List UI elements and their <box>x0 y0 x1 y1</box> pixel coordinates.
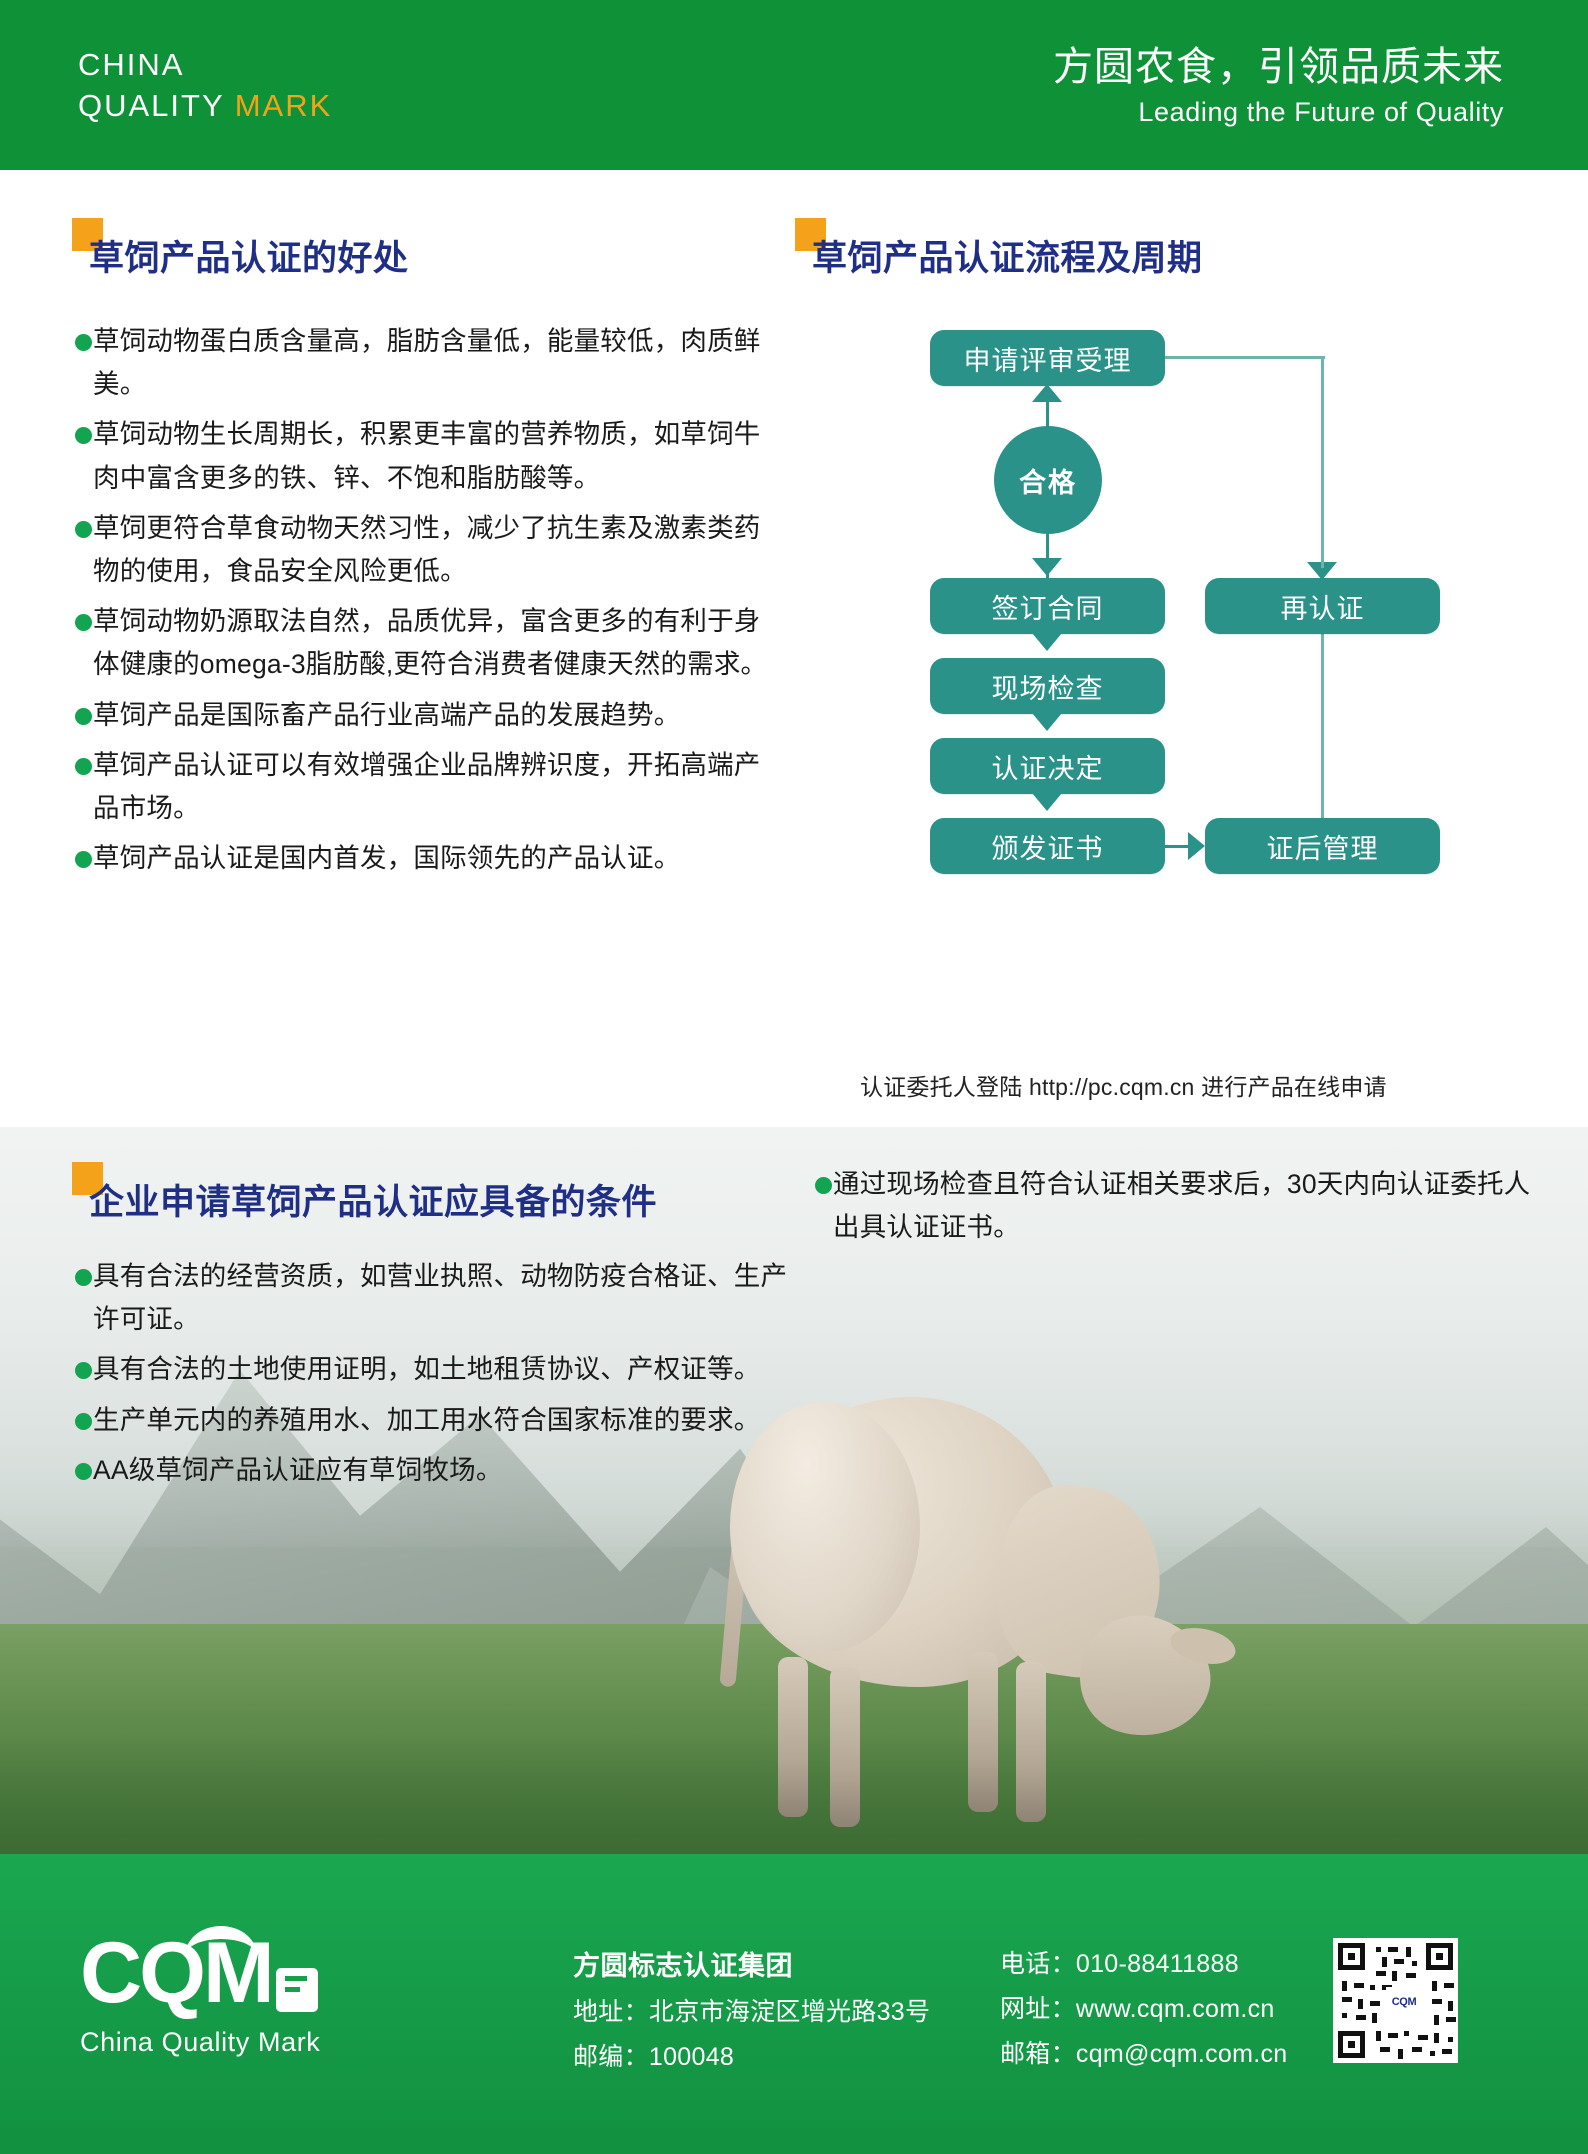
cqm-logo-subtitle: China Quality Mark <box>80 2027 400 2058</box>
flow-node-contract-label: 签订合同 <box>992 587 1104 626</box>
list-item: 草饲更符合草食动物天然习性，减少了抗生素及激素类药物的使用，食品安全风险更低。 <box>55 507 775 593</box>
flow-connector-post-to-recert <box>1321 634 1324 818</box>
list-item-text: 草饲动物奶源取法自然，品质优异，富含更多的有利于身体健康的omega-3脂肪酸,… <box>93 600 775 686</box>
bullet-dot-icon <box>75 708 92 725</box>
process-note: 认证委托人登陆 http://pc.cqm.cn 进行产品在线申请 <box>860 1068 1560 1102</box>
cqm-logo: CQM China Quality Mark <box>80 1930 400 2058</box>
footer-address: 地址：北京市海淀区增光路33号 <box>573 1992 930 2028</box>
flow-arrow-down-icon <box>1032 633 1062 651</box>
footer-website[interactable]: 网址：www.cqm.com.cn <box>1000 1989 1287 2025</box>
conditions-list: 具有合法的经营资质，如营业执照、动物防疫合格证、生产许可证。 具有合法的土地使用… <box>55 1255 795 1499</box>
qr-finder-icon <box>1426 1943 1453 1970</box>
list-item-text: 草饲更符合草食动物天然习性，减少了抗生素及激素类药物的使用，食品安全风险更低。 <box>93 507 775 593</box>
flow-node-issue-label: 颁发证书 <box>992 827 1104 866</box>
bullet-dot-icon <box>75 334 92 351</box>
brand-wordmark: CHINA QUALITY MARK <box>78 45 332 127</box>
flow-connector-apply-to-recert-h <box>1165 356 1325 359</box>
qr-code[interactable]: CQM <box>1333 1938 1458 2063</box>
flow-node-contract: 签订合同 <box>930 578 1165 634</box>
list-item-text: 通过现场检查且符合认证相关要求后，30天内向认证委托人出具认证证书。 <box>833 1163 1535 1249</box>
list-item-text: 具有合法的土地使用证明，如土地租赁协议、产权证等。 <box>93 1348 795 1391</box>
list-item-text: 生产单元内的养殖用水、加工用水符合国家标准的要求。 <box>93 1399 795 1442</box>
flow-node-apply: 申请评审受理 <box>930 330 1165 386</box>
qr-code-pattern: CQM <box>1336 1941 1455 2060</box>
flow-connector-apply-to-recert-v <box>1321 356 1324 568</box>
brand-mark-text: MARK <box>235 88 333 123</box>
footer-company-name: 方圆标志认证集团 <box>573 1944 930 1983</box>
flow-node-post-manage: 证后管理 <box>1205 818 1440 874</box>
flow-node-recert-label: 再认证 <box>1281 587 1365 626</box>
list-item-text: 草饲动物生长周期长，积累更丰富的营养物质，如草饲牛肉中富含更多的铁、锌、不饱和脂… <box>93 413 775 499</box>
flow-node-decision-label: 认证决定 <box>992 747 1104 786</box>
footer-postcode: 邮编：100048 <box>573 2037 930 2073</box>
bullet-dot-icon <box>75 758 92 775</box>
list-item: 生产单元内的养殖用水、加工用水符合国家标准的要求。 <box>55 1399 795 1442</box>
certification-flowchart: 申请评审受理 合格 签订合同 现场检查 认证决定 颁发证书 证后管理 再认证 <box>900 330 1460 990</box>
list-item: AA级草饲产品认证应有草饲牧场。 <box>55 1449 795 1492</box>
list-item: 草饲产品是国际畜产品行业高端产品的发展趋势。 <box>55 694 775 737</box>
bullet-dot-icon <box>75 1463 92 1480</box>
list-item: 草饲产品认证是国内首发，国际领先的产品认证。 <box>55 837 775 880</box>
flow-node-post-manage-label: 证后管理 <box>1267 827 1379 866</box>
list-item-text: 草饲产品是国际畜产品行业高端产品的发展趋势。 <box>93 694 775 737</box>
flow-node-inspection: 现场检查 <box>930 658 1165 714</box>
cow-leg <box>1016 1662 1046 1822</box>
slogan-chinese: 方圆农食，引领品质未来 <box>1053 42 1504 93</box>
conditions-title: 企业申请草饲产品认证应具备的条件 <box>89 1174 657 1225</box>
flow-node-apply-label: 申请评审受理 <box>964 339 1132 378</box>
flow-node-pass-label: 合格 <box>1019 461 1077 500</box>
cqm-logo-badge-icon <box>276 1968 318 2012</box>
flow-node-inspection-label: 现场检查 <box>992 667 1104 706</box>
bullet-dot-icon <box>75 851 92 868</box>
cow-leg <box>830 1667 860 1827</box>
footer-contact-block: 电话：010-88411888 网址：www.cqm.com.cn 邮箱：cqm… <box>1000 1944 1287 2079</box>
list-item-text: 草饲动物蛋白质含量高，脂肪含量低，能量较低，肉质鲜美。 <box>93 320 775 406</box>
list-item: 具有合法的经营资质，如营业执照、动物防疫合格证、生产许可证。 <box>55 1255 795 1341</box>
page-header: CHINA QUALITY MARK 方圆农食，引领品质未来 Leading t… <box>0 0 1588 170</box>
brand-line-quality-mark: QUALITY MARK <box>78 86 332 127</box>
process-title: 草饲产品认证流程及周期 <box>812 230 1203 281</box>
qr-finder-icon <box>1338 2031 1365 2058</box>
flow-node-pass: 合格 <box>994 426 1102 534</box>
flow-node-decision: 认证决定 <box>930 738 1165 794</box>
list-item: 具有合法的土地使用证明，如土地租赁协议、产权证等。 <box>55 1348 795 1391</box>
footer-email[interactable]: 邮箱：cqm@cqm.com.cn <box>1000 2034 1287 2070</box>
cow-leg <box>968 1652 998 1812</box>
bullet-dot-icon <box>815 1177 832 1194</box>
list-item: 草饲动物奶源取法自然，品质优异，富含更多的有利于身体健康的omega-3脂肪酸,… <box>55 600 775 686</box>
flow-arrow-up-icon <box>1032 384 1062 402</box>
slogan-english: Leading the Future of Quality <box>1053 97 1504 128</box>
brand-quality-text: QUALITY <box>78 88 235 123</box>
conditions-right-list: 通过现场检查且符合认证相关要求后，30天内向认证委托人出具认证证书。 <box>795 1163 1535 1256</box>
benefits-title: 草饲产品认证的好处 <box>89 230 409 281</box>
flow-arrow-down-icon <box>1032 558 1062 576</box>
list-item-text: 草饲产品认证可以有效增强企业品牌辨识度，开拓高端产品市场。 <box>93 744 775 830</box>
list-item-text: 草饲产品认证是国内首发，国际领先的产品认证。 <box>93 837 775 880</box>
bullet-dot-icon <box>75 1362 92 1379</box>
list-item-text: 具有合法的经营资质，如营业执照、动物防疫合格证、生产许可证。 <box>93 1255 795 1341</box>
footer-phone: 电话：010-88411888 <box>1000 1944 1287 1980</box>
footer-company-block: 方圆标志认证集团 地址：北京市海淀区增光路33号 邮编：100048 <box>573 1944 930 2073</box>
cow-leg <box>778 1657 808 1817</box>
header-slogan: 方圆农食，引领品质未来 Leading the Future of Qualit… <box>1053 42 1504 128</box>
flow-node-issue: 颁发证书 <box>930 818 1165 874</box>
bullet-dot-icon <box>75 427 92 444</box>
list-item: 草饲产品认证可以有效增强企业品牌辨识度，开拓高端产品市场。 <box>55 744 775 830</box>
cqm-logo-wordmark: CQM <box>80 1930 400 2016</box>
flow-node-recert: 再认证 <box>1205 578 1440 634</box>
list-item: 草饲动物蛋白质含量高，脂肪含量低，能量较低，肉质鲜美。 <box>55 320 775 406</box>
list-item: 通过现场检查且符合认证相关要求后，30天内向认证委托人出具认证证书。 <box>795 1163 1535 1249</box>
flow-arrow-down-icon <box>1032 793 1062 811</box>
list-item-text: AA级草饲产品认证应有草饲牧场。 <box>93 1449 795 1492</box>
qr-finder-icon <box>1338 1943 1365 1970</box>
bullet-dot-icon <box>75 614 92 631</box>
flow-arrow-right-icon <box>1188 832 1205 860</box>
flow-arrow-down-icon <box>1032 713 1062 731</box>
list-item: 草饲动物生长周期长，积累更丰富的营养物质，如草饲牛肉中富含更多的铁、锌、不饱和脂… <box>55 413 775 499</box>
benefits-list: 草饲动物蛋白质含量高，脂肪含量低，能量较低，肉质鲜美。 草饲动物生长周期长，积累… <box>55 320 775 887</box>
qr-center-logo: CQM <box>1386 1987 1422 2017</box>
bullet-dot-icon <box>75 1269 92 1286</box>
brand-line-china: CHINA <box>78 45 332 86</box>
bullet-dot-icon <box>75 1413 92 1430</box>
bullet-dot-icon <box>75 521 92 538</box>
